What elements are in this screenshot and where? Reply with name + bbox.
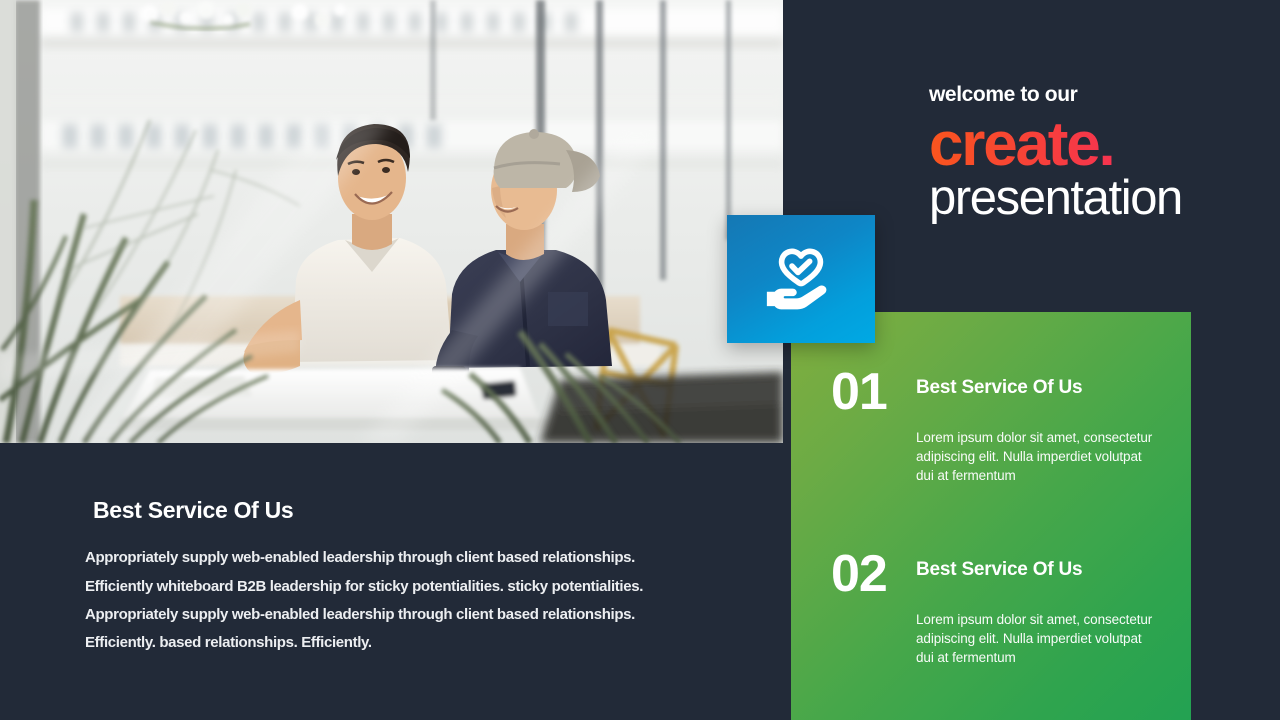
feature-title: Best Service Of Us bbox=[916, 552, 1082, 582]
feature-body: Lorem ipsum dolor sit amet, consectetur … bbox=[916, 610, 1161, 667]
feature-item-01: 01 Best Service Of Us Lorem ipsum dolor … bbox=[831, 370, 1161, 485]
left-block-paragraph: Appropriately supply web-enabled leaders… bbox=[85, 606, 725, 623]
feature-number: 02 bbox=[831, 552, 916, 598]
hero-photo bbox=[0, 0, 783, 443]
left-block-body: Appropriately supply web-enabled leaders… bbox=[85, 549, 725, 651]
feature-body: Lorem ipsum dolor sit amet, consectetur … bbox=[916, 428, 1161, 485]
hand-holding-heart-check-icon bbox=[762, 240, 840, 318]
left-block-title: Best Service Of Us bbox=[93, 498, 725, 523]
feature-number: 01 bbox=[831, 370, 916, 416]
left-block-paragraph: Efficiently. based relationships. Effici… bbox=[85, 634, 725, 651]
slide-header: welcome to our create. presentation bbox=[929, 84, 1259, 224]
hand-holding-heart-check-icon-badge bbox=[727, 215, 875, 343]
brand-title: create. bbox=[929, 116, 1259, 175]
feature-item-02: 02 Best Service Of Us Lorem ipsum dolor … bbox=[831, 552, 1161, 667]
presentation-slide: welcome to our create. presentation 01 B… bbox=[0, 0, 1280, 720]
brand-subtitle: presentation bbox=[929, 173, 1259, 224]
left-block-paragraph: Appropriately supply web-enabled leaders… bbox=[85, 549, 725, 566]
feature-title: Best Service Of Us bbox=[916, 370, 1082, 400]
left-content-block: Best Service Of Us Appropriately supply … bbox=[85, 498, 725, 662]
left-block-paragraph: Efficiently whiteboard B2B leadership fo… bbox=[85, 578, 725, 595]
welcome-label: welcome to our bbox=[929, 84, 1259, 105]
hero-photo-illustration bbox=[0, 0, 783, 443]
features-panel: 01 Best Service Of Us Lorem ipsum dolor … bbox=[791, 312, 1191, 720]
